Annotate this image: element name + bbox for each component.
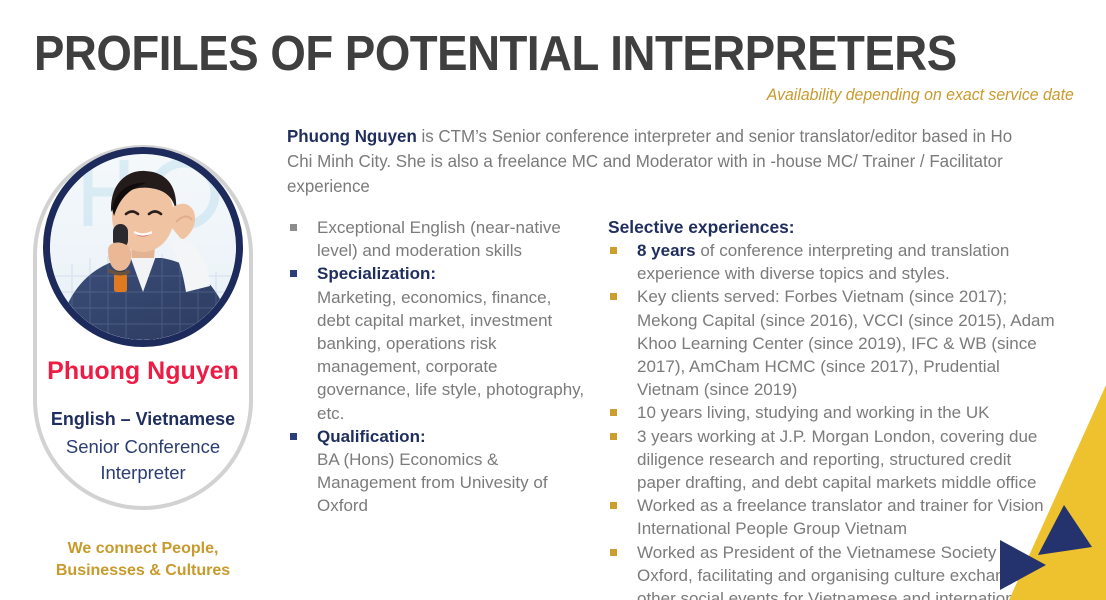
list-item: Worked as President of the Vietnamese So… bbox=[608, 541, 1058, 600]
avatar-photo bbox=[50, 154, 236, 340]
profile-card: Phuong Nguyen English – Vietnamese Senio… bbox=[33, 145, 253, 510]
company-tagline: We connect People, Businesses & Cultures bbox=[33, 538, 253, 582]
page-title: PROFILES OF POTENTIAL INTERPRETERS bbox=[34, 26, 957, 82]
intro-paragraph: Phuong Nguyen is CTM’s Senior conference… bbox=[287, 124, 1041, 199]
list-item: Qualification:BA (Hons) Economics & Mana… bbox=[288, 425, 588, 518]
avatar-photo-image bbox=[50, 154, 236, 340]
list-item: 3 years working at J.P. Morgan London, c… bbox=[608, 425, 1058, 495]
intro-lead-name: Phuong Nguyen bbox=[287, 126, 417, 146]
list-item-heading: Qualification: bbox=[317, 425, 588, 448]
profile-name: Phuong Nguyen bbox=[37, 357, 249, 386]
list-item-strong: 8 years bbox=[637, 241, 696, 260]
list-item-body: Worked as President of the Vietnamese So… bbox=[637, 543, 1057, 600]
tagline-line-1: We connect People, bbox=[33, 538, 253, 560]
profile-role: Senior Conference Interpreter bbox=[37, 434, 249, 486]
profile-language-pair: English – Vietnamese bbox=[40, 408, 246, 430]
tagline-line-2: Businesses & Cultures bbox=[33, 560, 253, 582]
bullet-marker-icon bbox=[610, 409, 617, 416]
list-item-body: Key clients served: Forbes Vietnam (sinc… bbox=[637, 287, 1055, 399]
list-item-body: Marketing, economics, finance, debt capi… bbox=[317, 286, 588, 425]
bullet-marker-icon bbox=[610, 293, 617, 300]
bullet-marker-icon bbox=[610, 247, 617, 254]
bullet-marker-icon bbox=[610, 549, 617, 556]
list-item: Specialization:Marketing, economics, fin… bbox=[288, 262, 588, 424]
profile-role-line-1: Senior Conference bbox=[37, 434, 249, 460]
list-item: Exceptional English (near-native level) … bbox=[288, 216, 588, 262]
list-item-body: 3 years working at J.P. Morgan London, c… bbox=[637, 427, 1037, 492]
list-item-body: BA (Hons) Economics & Management from Un… bbox=[317, 448, 588, 518]
experiences-column: Selective experiences: 8 years of confer… bbox=[608, 216, 1058, 600]
skills-column: Exceptional English (near-native level) … bbox=[288, 216, 588, 518]
list-item: Worked as a freelance translator and tra… bbox=[608, 494, 1058, 540]
list-item-body: Worked as a freelance translator and tra… bbox=[637, 496, 1044, 538]
bullet-marker-icon bbox=[290, 224, 297, 231]
bullet-marker-icon bbox=[610, 502, 617, 509]
avatar bbox=[43, 147, 243, 347]
skills-list: Exceptional English (near-native level) … bbox=[288, 216, 588, 518]
experiences-heading: Selective experiences: bbox=[608, 216, 1058, 238]
profile-role-line-2: Interpreter bbox=[37, 460, 249, 486]
list-item: 10 years living, studying and working in… bbox=[608, 401, 1058, 424]
list-item: 8 years of conference interpreting and t… bbox=[608, 239, 1058, 285]
list-item: Key clients served: Forbes Vietnam (sinc… bbox=[608, 285, 1058, 401]
bullet-marker-icon bbox=[290, 433, 297, 440]
slide-canvas: PROFILES OF POTENTIAL INTERPRETERS Avail… bbox=[0, 0, 1106, 600]
availability-note: Availability depending on exact service … bbox=[767, 86, 1074, 105]
experiences-list: 8 years of conference interpreting and t… bbox=[608, 239, 1058, 600]
list-item-body: Exceptional English (near-native level) … bbox=[317, 218, 561, 260]
list-item-body: 10 years living, studying and working in… bbox=[637, 403, 989, 422]
list-item-heading: Specialization: bbox=[317, 262, 588, 285]
bullet-marker-icon bbox=[610, 433, 617, 440]
bullet-marker-icon bbox=[290, 270, 297, 277]
